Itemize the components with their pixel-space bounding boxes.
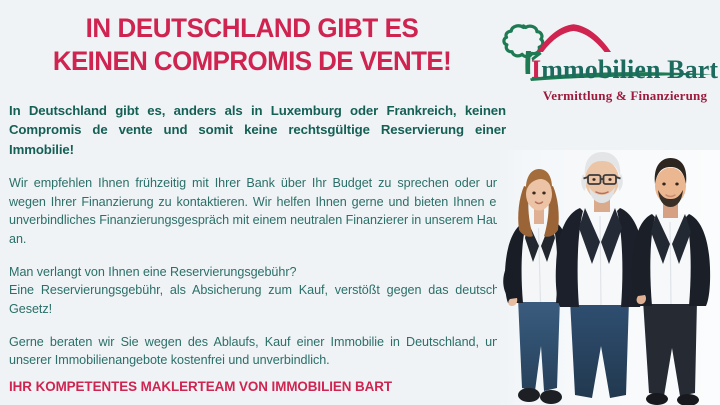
company-logo: Immobilien Bart Vermittlung & Finanzieru…	[500, 18, 714, 114]
logo-wordmark-rest: mmobilien Bart	[541, 55, 718, 84]
paragraph-financing: Wir empfehlen Ihnen frühzeitig mit Ihrer…	[9, 174, 506, 249]
team-photo	[497, 150, 720, 405]
paragraph-fee-answer: Eine Reservierungsgebühr, als Absicherun…	[9, 281, 506, 318]
tree-icon	[504, 26, 543, 57]
team-photo-illustration	[497, 150, 720, 405]
headline-line-1: IN DEUTSCHLAND GIBT ES	[27, 12, 476, 45]
closing-line: IHR KOMPETENTES MAKLERTEAM VON IMMOBILIE…	[9, 379, 392, 394]
promo-banner: IN DEUTSCHLAND GIBT ES KEINEN COMPROMIS …	[0, 0, 720, 405]
page-title: IN DEUTSCHLAND GIBT ES KEINEN COMPROMIS …	[27, 12, 476, 78]
logo-wordmark: Immobilien Bart	[531, 55, 715, 85]
roof-icon	[537, 24, 611, 52]
body-copy: In Deutschland gibt es, anders als in Lu…	[9, 101, 506, 370]
paragraph-consulting: Gerne beraten wir Sie wegen des Ablaufs,…	[9, 333, 506, 370]
logo-tagline: Vermittlung & Finanzierung	[536, 88, 714, 104]
paragraph-fee-question: Man verlangt von Ihnen eine Reservierung…	[9, 263, 506, 282]
intro-paragraph: In Deutschland gibt es, anders als in Lu…	[9, 101, 506, 159]
headline-line-2: KEINEN COMPROMIS DE VENTE!	[27, 45, 476, 78]
logo-wordmark-initial: I	[531, 55, 541, 84]
